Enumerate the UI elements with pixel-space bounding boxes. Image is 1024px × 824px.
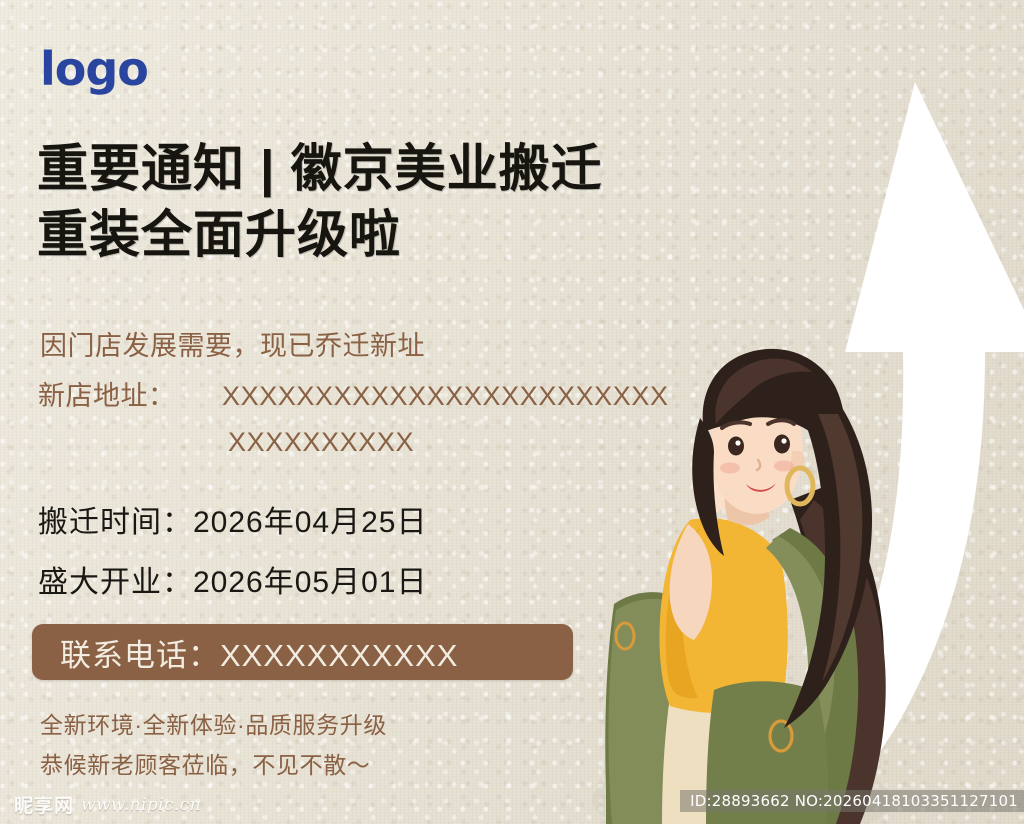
contact-phone-text: 联系电话：XXXXXXXXXXX [60, 624, 458, 680]
slogan-block: 全新环境·全新体验·品质服务升级 恭候新老顾客莅临，不见不散～ [40, 706, 387, 785]
contact-phone-box[interactable]: 联系电话：XXXXXXXXXXX [32, 624, 573, 680]
poster-content: logo 重要通知 | 徽京美业搬迁 重装全面升级啦 因门店发展需要，现已乔迁新… [0, 0, 1024, 824]
address-label: 新店地址： [38, 380, 176, 412]
relocation-reason-text: 因门店发展需要，现已乔迁新址 [40, 330, 425, 362]
page-title: 重要通知 | 徽京美业搬迁 重装全面升级啦 [37, 136, 827, 269]
poster-canvas: logo 重要通知 | 徽京美业搬迁 重装全面升级啦 因门店发展需要，现已乔迁新… [0, 0, 1024, 824]
headline-line-2: 重装全面升级啦 [37, 202, 827, 268]
address-value-line-1: XXXXXXXXXXXXXXXXXXXXXXXX [222, 381, 669, 412]
brand-logo[interactable]: logo [40, 46, 148, 92]
address-value-line-2: XXXXXXXXXX [228, 427, 414, 458]
opening-date-text: 盛大开业：2026年05月01日 [38, 557, 427, 601]
headline-line-1: 重要通知 | 徽京美业搬迁 [37, 136, 827, 202]
slogan-line-2: 恭候新老顾客莅临，不见不散～ [40, 746, 387, 786]
slogan-line-1: 全新环境·全新体验·品质服务升级 [40, 706, 387, 746]
move-date-text: 搬迁时间：2026年04月25日 [38, 497, 427, 541]
